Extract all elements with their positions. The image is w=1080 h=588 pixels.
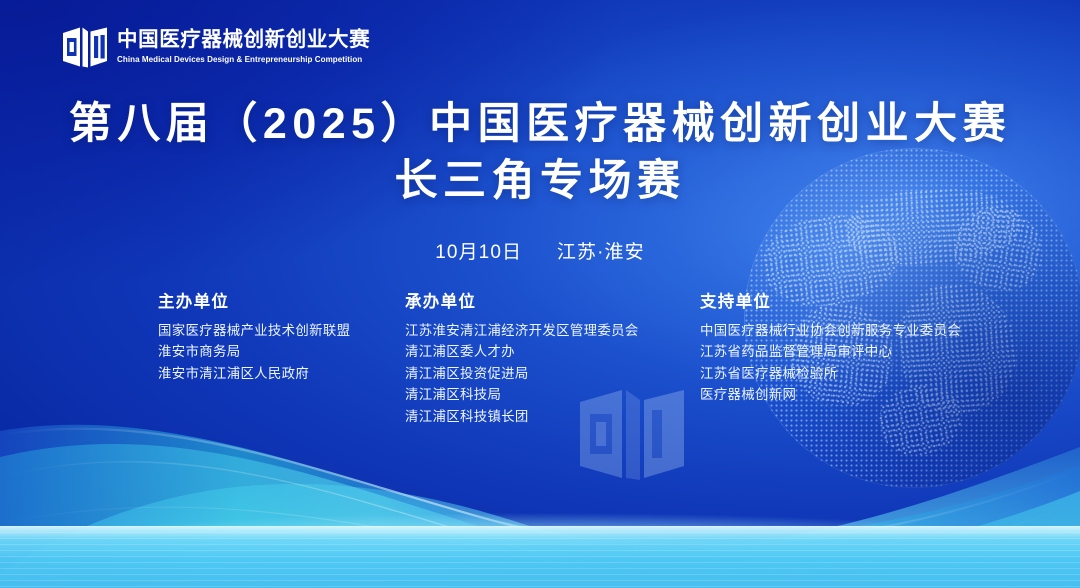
organizer-heading: 支持单位 — [700, 294, 961, 311]
brand-text-block: 中国医疗器械创新创业大赛 China Medical Devices Desig… — [117, 29, 370, 65]
organizer-item: 清江浦区委人才办 — [405, 341, 639, 363]
title-line-2: 长三角专场赛 — [0, 153, 1080, 210]
organizer-item: 江苏淮安清江浦经济开发区管理委员会 — [405, 320, 639, 342]
organizer-heading: 主办单位 — [158, 294, 350, 311]
organizer-item: 江苏省药品监督管理局审评中心 — [700, 341, 961, 363]
event-date: 10月10日 — [435, 242, 522, 263]
brand-name-cn: 中国医疗器械创新创业大赛 — [117, 29, 370, 52]
poster-canvas: 中国医疗器械创新创业大赛 China Medical Devices Desig… — [0, 0, 1080, 588]
organizer-column-organizer: 承办单位 江苏淮安清江浦经济开发区管理委员会 清江浦区委人才办 清江浦区投资促进… — [405, 294, 639, 427]
organizer-columns: 主办单位 国家医疗器械产业技术创新联盟 淮安市商务局 淮安市清江浦区人民政府 承… — [0, 294, 1080, 454]
organizer-item: 清江浦区科技局 — [405, 384, 639, 406]
organizer-heading: 承办单位 — [405, 294, 639, 311]
organizer-item: 清江浦区投资促进局 — [405, 363, 639, 385]
organizer-item: 江苏省医疗器械检验所 — [700, 363, 961, 385]
organizer-column-supporter: 支持单位 中国医疗器械行业协会创新服务专业委员会 江苏省药品监督管理局审评中心 … — [700, 294, 961, 406]
organizer-item: 清江浦区科技镇长团 — [405, 406, 639, 428]
open-book-logo-icon — [62, 26, 108, 68]
brand-lockup: 中国医疗器械创新创业大赛 China Medical Devices Desig… — [62, 26, 370, 68]
poster-content: 中国医疗器械创新创业大赛 China Medical Devices Desig… — [0, 0, 1080, 588]
event-subtitle: 10月10日 江苏·淮安 — [0, 237, 1080, 264]
organizer-item: 医疗器械创新网 — [700, 384, 961, 406]
organizer-item: 淮安市商务局 — [158, 341, 350, 363]
page-title: 第八届（2025）中国医疗器械创新创业大赛 长三角专场赛 — [0, 96, 1080, 210]
event-location: 江苏·淮安 — [557, 242, 645, 263]
title-line-1: 第八届（2025）中国医疗器械创新创业大赛 — [0, 96, 1080, 153]
brand-name-en: China Medical Devices Design & Entrepren… — [117, 54, 363, 65]
organizer-item: 国家医疗器械产业技术创新联盟 — [158, 320, 350, 342]
organizer-item: 淮安市清江浦区人民政府 — [158, 363, 350, 385]
organizer-column-host: 主办单位 国家医疗器械产业技术创新联盟 淮安市商务局 淮安市清江浦区人民政府 — [158, 294, 350, 384]
organizer-item: 中国医疗器械行业协会创新服务专业委员会 — [700, 320, 961, 342]
